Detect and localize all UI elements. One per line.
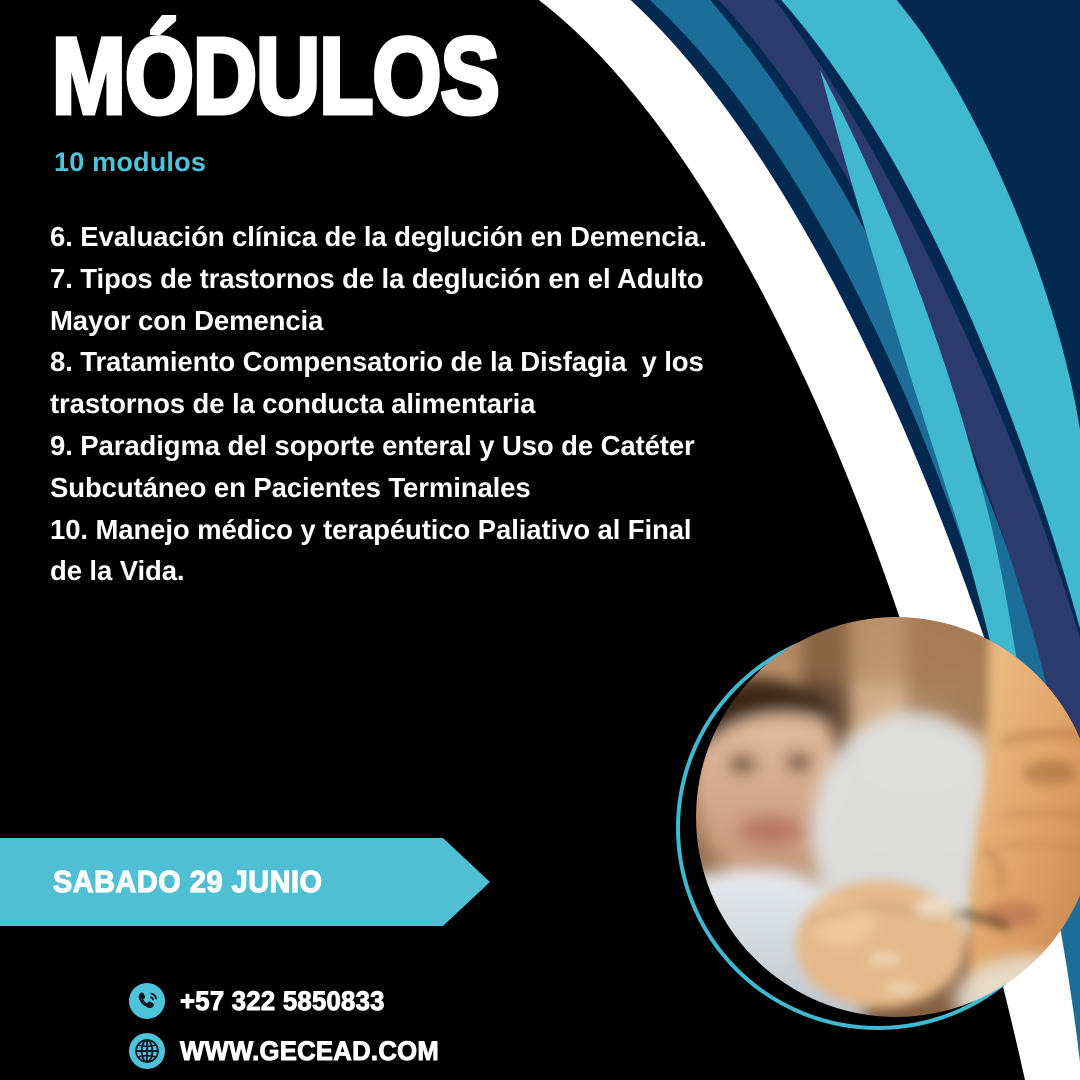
module-list: 6. Evaluación clínica de la deglución en… xyxy=(50,216,710,592)
module-list-item: 10. Manejo médico y terapéutico Paliativ… xyxy=(50,509,710,593)
module-count-label: 10 modulos xyxy=(54,147,692,178)
photo-circle xyxy=(696,617,1080,1017)
contact-row-website[interactable]: WWW.GECEAD.COM xyxy=(128,1028,453,1074)
date-label: SABADO 29 JUNIO xyxy=(53,838,323,926)
module-list-item: 6. Evaluación clínica de la deglución en… xyxy=(50,216,710,258)
module-list-item: 7. Tipos de trastornos de la deglución e… xyxy=(50,258,710,342)
contact-row-phone[interactable]: +57 322 5850833 xyxy=(128,978,453,1024)
caregiver-photo xyxy=(696,617,1080,1017)
module-list-item: 9. Paradigma del soporte enteral y Uso d… xyxy=(50,425,710,509)
poster-root: MÓDULOS 10 modulos 6. Evaluación clínica… xyxy=(0,0,1080,1080)
globe-icon xyxy=(128,1032,166,1070)
title-block: MÓDULOS 10 modulos xyxy=(52,26,692,178)
phone-number: +57 322 5850833 xyxy=(180,986,385,1017)
module-list-item: 8. Tratamiento Compensatorio de la Disfa… xyxy=(50,341,710,425)
date-banner: SABADO 29 JUNIO xyxy=(0,838,490,926)
phone-icon xyxy=(128,982,166,1020)
contact-block: +57 322 5850833 WWW.GECEAD.COM xyxy=(128,978,453,1078)
page-title: MÓDULOS xyxy=(52,26,577,125)
wave-navy-wedge xyxy=(850,0,1080,430)
website-url: WWW.GECEAD.COM xyxy=(180,1036,439,1067)
